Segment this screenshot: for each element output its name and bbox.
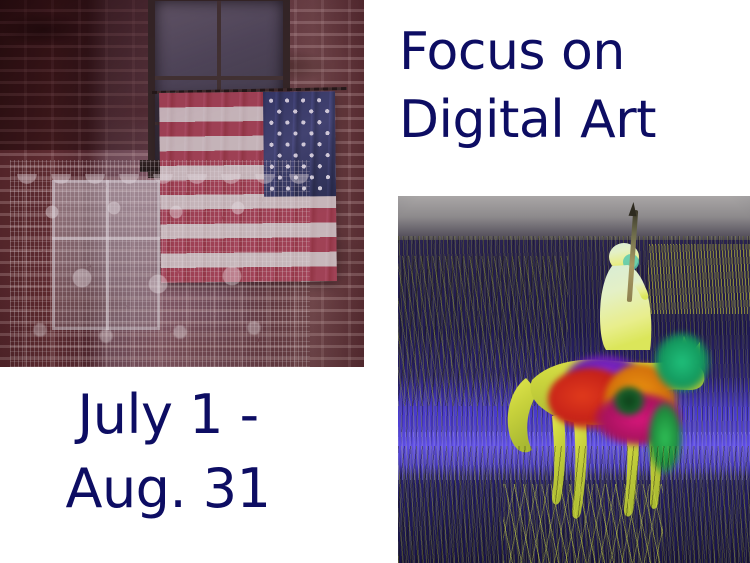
slide-canvas: Focus on Digital Art July 1 - Aug. 31 [0,0,750,563]
headline: Focus on Digital Art [399,18,739,154]
solarized-horse-rider-artwork [398,196,750,563]
photo-vignette [0,0,364,367]
headline-line-2: Digital Art [399,86,739,154]
date-range: July 1 - Aug. 31 [8,378,328,526]
date-range-line-1: July 1 - [8,378,328,452]
headline-line-1: Focus on [399,18,739,86]
date-range-line-2: Aug. 31 [8,452,328,526]
artwork-vignette [398,196,750,563]
brick-wall-flag-lace-photo [0,0,364,367]
